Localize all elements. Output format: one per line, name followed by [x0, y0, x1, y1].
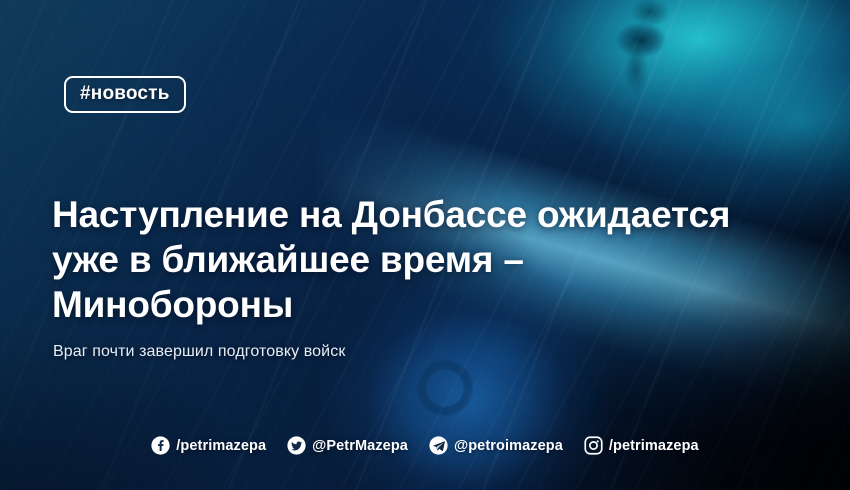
social-bar: /petrimazepa @PetrMazepa — [0, 436, 850, 455]
social-handle-facebook: /petrimazepa — [176, 438, 266, 454]
twitter-icon — [287, 436, 306, 455]
card-content: #новость Наступление на Донбассе ожидает… — [0, 0, 850, 490]
subtitle: Враг почти завершил подготовку войск — [53, 341, 345, 363]
instagram-icon — [584, 436, 603, 455]
news-card: #новость Наступление на Донбассе ожидает… — [0, 0, 850, 490]
social-handle-instagram: /petrimazepa — [609, 438, 699, 454]
telegram-icon — [429, 436, 448, 455]
social-handle-twitter: @PetrMazepa — [312, 438, 408, 454]
category-badge[interactable]: #новость — [64, 76, 186, 113]
facebook-icon — [151, 436, 170, 455]
headline: Наступление на Донбассе ожидается уже в … — [52, 192, 752, 327]
social-link-telegram[interactable]: @petroimazepa — [429, 436, 563, 455]
social-link-instagram[interactable]: /petrimazepa — [584, 436, 699, 455]
social-link-twitter[interactable]: @PetrMazepa — [287, 436, 408, 455]
social-link-facebook[interactable]: /petrimazepa — [151, 436, 266, 455]
social-handle-telegram: @petroimazepa — [454, 438, 563, 454]
